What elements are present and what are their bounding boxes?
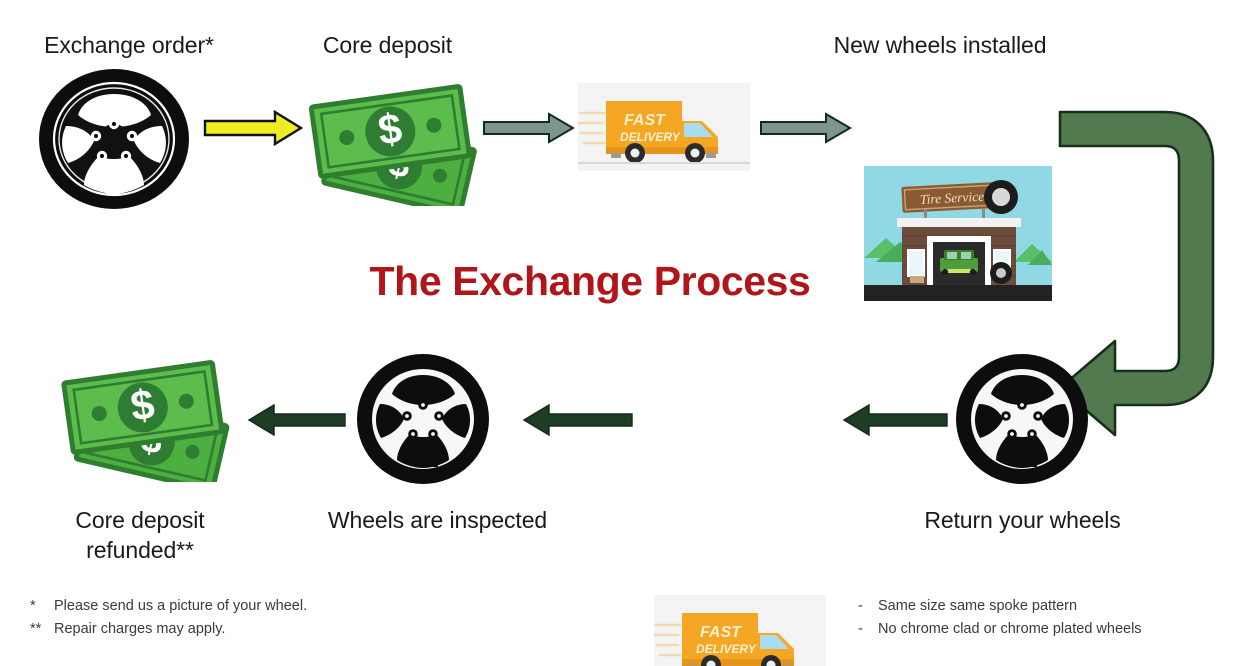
label-new-wheels-installed-text: New wheels installed: [834, 32, 1047, 58]
arrow-right-icon-graphic: [483, 112, 575, 144]
label-core-deposit: Core deposit: [270, 30, 505, 60]
money-icon: $ $: [305, 74, 480, 206]
money-icon: $ $: [55, 350, 235, 482]
arrow-right-icon: [760, 112, 852, 144]
arrow-left-icon-graphic: [523, 403, 633, 437]
truck-label-delivery: DELIVERY: [696, 642, 757, 656]
label-core-deposit-refunded-line2: refunded**: [25, 535, 255, 565]
money-icon-graphic: $ $: [55, 350, 235, 482]
arrow-left-icon: [523, 403, 633, 437]
wheel-icon: [955, 352, 1089, 486]
wheel-icon-graphic: [356, 353, 490, 485]
truck-label-fast: FAST: [700, 624, 742, 641]
page-title-text: The Exchange Process: [370, 258, 811, 304]
wheel-icon: [38, 68, 190, 210]
label-core-deposit-refunded-line1: Core deposit: [25, 505, 255, 535]
footnotes-left: * Please send us a picture of your wheel…: [30, 595, 510, 641]
arrow-left-icon-graphic: [843, 403, 948, 437]
arrow-left-icon-graphic: [248, 403, 346, 437]
arrow-right-icon: [203, 110, 303, 146]
wheel-icon: [356, 353, 490, 485]
wheel-icon-graphic: [38, 68, 190, 210]
label-wheels-inspected: Wheels are inspected: [290, 505, 585, 535]
truck-label-delivery: DELIVERY: [620, 130, 681, 144]
arrow-right-icon-graphic: [760, 112, 852, 144]
label-core-deposit-text: Core deposit: [323, 32, 452, 58]
label-exchange-order: Exchange order*: [0, 30, 258, 60]
arrow-left-icon: [248, 403, 346, 437]
footnote-item: - No chrome clad or chrome plated wheels: [858, 618, 1250, 641]
label-return-your-wheels-text: Return your wheels: [924, 507, 1120, 533]
delivery-truck-icon-graphic: FAST DELIVERY: [578, 83, 750, 171]
wheel-icon-graphic: [955, 352, 1089, 486]
footnote-marker: **: [30, 618, 54, 641]
footnote-text: Same size same spoke pattern: [878, 595, 1077, 618]
delivery-truck-icon: FAST DELIVERY: [654, 595, 826, 666]
footnote-text: Please send us a picture of your wheel.: [54, 595, 307, 618]
arrow-left-icon: [843, 403, 948, 437]
footnote-marker: -: [858, 595, 878, 618]
footnote-item: * Please send us a picture of your wheel…: [30, 595, 510, 618]
label-new-wheels-installed: New wheels installed: [790, 30, 1090, 60]
footnotes-right: - Same size same spoke pattern - No chro…: [858, 595, 1250, 641]
page-title: The Exchange Process: [0, 258, 1180, 305]
footnote-text: Repair charges may apply.: [54, 618, 225, 641]
delivery-truck-icon-graphic: FAST DELIVERY: [654, 595, 826, 666]
delivery-truck-icon: FAST DELIVERY: [578, 83, 750, 171]
truck-label-fast: FAST: [624, 112, 666, 129]
exchange-process-diagram: Exchange order* Core deposit New wheels …: [0, 0, 1250, 666]
arrow-right-icon: [483, 112, 575, 144]
label-exchange-order-text: Exchange order*: [44, 32, 214, 58]
footnote-marker: *: [30, 595, 54, 618]
footnote-marker: -: [858, 618, 878, 641]
footnote-item: - Same size same spoke pattern: [858, 595, 1250, 618]
footnote-text: No chrome clad or chrome plated wheels: [878, 618, 1142, 641]
footnote-item: ** Repair charges may apply.: [30, 618, 510, 641]
label-core-deposit-refunded: Core deposit refunded**: [25, 505, 255, 565]
arrow-right-icon-graphic: [203, 110, 303, 146]
label-wheels-inspected-text: Wheels are inspected: [328, 507, 547, 533]
money-icon-graphic: $ $: [305, 74, 480, 206]
label-return-your-wheels: Return your wheels: [890, 505, 1155, 535]
